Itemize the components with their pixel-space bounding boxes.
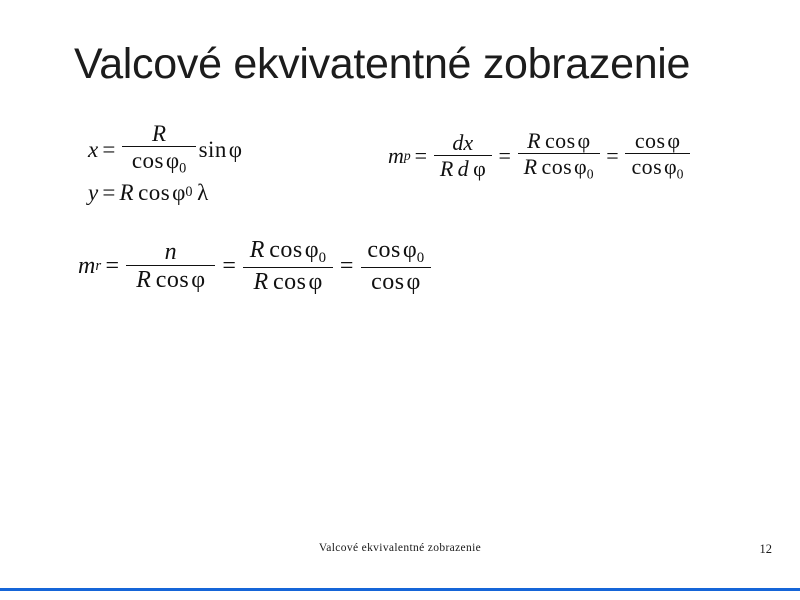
phi-subscript: 0 [417, 250, 424, 266]
formula-mr-equation: mr = n R cos φ = R cos φ0 R cos φ = cos … [78, 238, 434, 294]
formula-mp-fraction-3: cos φ cos φ0 [625, 130, 689, 181]
formula-mr-fraction-2: R cos φ0 R cos φ [243, 238, 333, 294]
formula-mr-equals-3: = [336, 254, 358, 278]
page-title: Valcové ekvivatentné zobrazenie [74, 40, 754, 88]
formula-mp-fraction-2: R cos φ R cos φ0 [518, 130, 600, 181]
page-number: 12 [760, 542, 773, 557]
formula-mr-f2-numerator: R cos φ0 [243, 238, 333, 268]
formula-mp-fraction-1: dx R d φ [434, 132, 492, 180]
formula-mr-fraction-1: n R cos φ [126, 240, 215, 292]
phi-symbol: φ [308, 269, 322, 295]
formula-x-equation: x = R cos φ0 sin φ [88, 122, 242, 176]
phi-subscript: 0 [185, 185, 192, 199]
formula-mp-equals-2: = [495, 145, 515, 167]
cos-operator: cos [635, 128, 666, 153]
cos-operator: cos [138, 181, 170, 204]
cos-operator: cos [269, 237, 302, 263]
radius-symbol: R [136, 267, 151, 293]
formula-mr-f3-numerator: cos φ0 [361, 238, 431, 268]
phi-subscript: 0 [319, 250, 326, 266]
slide-footer: Valcové ekvivalentné zobrazenie [0, 542, 800, 554]
formula-mr-lhs: m [78, 254, 95, 278]
phi-symbol: φ [574, 154, 587, 179]
phi-subscript: 0 [179, 161, 186, 177]
formula-mp-f3-denominator: cos φ0 [625, 154, 689, 181]
formula-mp-f2-denominator: R cos φ0 [518, 154, 600, 181]
formula-y-lhs: y [88, 181, 98, 204]
formula-mp-equals-3: = [602, 145, 622, 167]
phi-symbol: φ [191, 267, 205, 293]
cos-operator: cos [631, 154, 662, 179]
formula-y-equation: y = R cos φ0 λ [88, 181, 208, 204]
formula-mp-f1-numerator: dx [434, 132, 492, 156]
radius-symbol: R [527, 128, 540, 153]
radius-symbol: R [440, 156, 453, 181]
phi-subscript: 0 [677, 166, 684, 181]
formula-mp-f2-numerator: R cos φ [518, 130, 600, 154]
radius-symbol: R [524, 154, 537, 179]
formula-y-radius: R [119, 181, 133, 204]
formula-mp-f3-numerator: cos φ [625, 130, 689, 154]
formula-mp-lhs-subscript: p [404, 149, 411, 163]
phi-symbol: φ [166, 148, 179, 173]
formula-x-equals: = [98, 138, 119, 161]
formula-y-equals: = [98, 181, 119, 204]
formula-x-numerator: R [122, 122, 196, 147]
phi-symbol: φ [305, 237, 319, 263]
bottom-accent-rule [0, 588, 800, 591]
phi-symbol: φ [473, 156, 486, 181]
cos-operator: cos [371, 269, 404, 295]
phi-symbol: φ [664, 154, 677, 179]
lambda-symbol: λ [197, 181, 208, 204]
formula-mr-f2-denominator: R cos φ [243, 268, 333, 294]
radius-symbol: R [254, 269, 269, 295]
formula-x-lhs: x [88, 138, 98, 161]
formula-mp-f1-denominator: R d φ [434, 156, 492, 180]
presentation-slide: Valcové ekvivatentné zobrazenie x = R co… [0, 0, 800, 600]
phi-symbol: φ [667, 128, 680, 153]
formula-mr-fraction-3: cos φ0 cos φ [361, 238, 431, 294]
cos-operator: cos [367, 237, 400, 263]
formula-mr-equals-1: = [101, 254, 123, 278]
phi-symbol: φ [172, 181, 185, 204]
cos-operator: cos [156, 267, 189, 293]
cos-operator: cos [132, 148, 164, 173]
formula-mp-lhs: m [388, 145, 404, 167]
formula-mp-equation: mp = dx R d φ = R cos φ R cos φ0 = cos φ… [388, 130, 692, 181]
radius-symbol: R [250, 237, 265, 263]
formula-x-denominator: cos φ0 [122, 147, 196, 176]
cos-operator: cos [273, 269, 306, 295]
formula-x-fraction: R cos φ0 [122, 122, 196, 176]
phi-symbol-2: φ [229, 138, 242, 161]
cos-operator: cos [542, 154, 573, 179]
phi-symbol: φ [577, 128, 590, 153]
formula-mr-f3-denominator: cos φ [361, 268, 431, 294]
phi-symbol: φ [407, 269, 421, 295]
sin-operator: sin [199, 138, 227, 161]
formula-mr-f1-numerator: n [126, 240, 215, 266]
phi-subscript: 0 [587, 166, 594, 181]
formula-mr-f1-denominator: R cos φ [126, 266, 215, 292]
formula-mr-equals-2: = [218, 254, 240, 278]
differential-symbol: d [458, 156, 469, 181]
formula-mp-equals-1: = [411, 145, 431, 167]
cos-operator: cos [545, 128, 576, 153]
phi-symbol: φ [403, 237, 417, 263]
